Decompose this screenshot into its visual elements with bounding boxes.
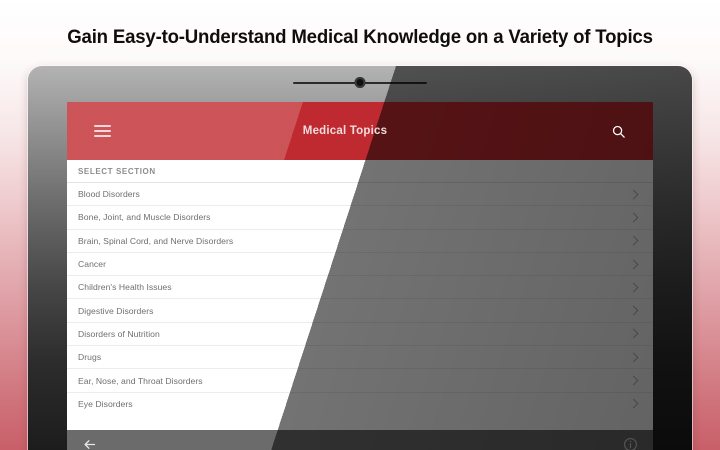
list-item-label: Blood Disorders	[78, 189, 140, 199]
info-circle-icon[interactable]	[620, 434, 640, 450]
chevron-right-icon	[629, 352, 639, 362]
chevron-right-icon	[629, 259, 639, 269]
list-item-label: Ear, Nose, and Throat Disorders	[78, 376, 203, 386]
chevron-right-icon	[629, 399, 639, 409]
device-screen: Medical Topics SELECT SECTION Blood Diso…	[67, 102, 653, 450]
list-item[interactable]: Blood Disorders	[67, 182, 653, 205]
list-item[interactable]: Cancer	[67, 252, 653, 275]
chevron-right-icon	[629, 329, 639, 339]
list-item[interactable]: Drugs	[67, 345, 653, 368]
chevron-right-icon	[629, 236, 639, 246]
chevron-right-icon	[629, 376, 639, 386]
app-bar: Medical Topics	[67, 102, 653, 160]
chevron-right-icon	[629, 306, 639, 316]
list-item[interactable]: Eye Disorders	[67, 392, 653, 415]
list-item-label: Digestive Disorders	[78, 306, 153, 316]
device-top-bezel	[28, 66, 692, 102]
list-item[interactable]: Disorders of Nutrition	[67, 322, 653, 345]
list-item[interactable]: Bone, Joint, and Muscle Disorders	[67, 205, 653, 228]
chevron-right-icon	[629, 282, 639, 292]
section-header-label: SELECT SECTION	[67, 160, 653, 182]
back-arrow-icon[interactable]	[79, 434, 99, 450]
search-icon[interactable]	[595, 102, 641, 160]
page-title: Gain Easy-to-Understand Medical Knowledg…	[16, 26, 704, 49]
topics-list: Blood DisordersBone, Joint, and Muscle D…	[67, 182, 653, 430]
list-item-label: Disorders of Nutrition	[78, 329, 160, 339]
app-bar-title: Medical Topics	[95, 125, 595, 137]
list-item[interactable]: Ear, Nose, and Throat Disorders	[67, 368, 653, 391]
list-item-label: Cancer	[78, 259, 106, 269]
front-camera-icon	[355, 77, 366, 88]
list-item-label: Children's Health Issues	[78, 282, 172, 292]
tablet-device-frame: Medical Topics SELECT SECTION Blood Diso…	[28, 66, 692, 450]
chevron-right-icon	[629, 189, 639, 199]
list-item-label: Eye Disorders	[78, 399, 133, 409]
list-item[interactable]: Brain, Spinal Cord, and Nerve Disorders	[67, 229, 653, 252]
chevron-right-icon	[629, 212, 639, 222]
promo-screenshot: Gain Easy-to-Understand Medical Knowledg…	[0, 0, 720, 450]
list-item[interactable]: Digestive Disorders	[67, 298, 653, 321]
list-item-label: Drugs	[78, 352, 101, 362]
list-item-label: Brain, Spinal Cord, and Nerve Disorders	[78, 236, 233, 246]
bottom-navigation-bar	[67, 430, 653, 450]
list-item-label: Bone, Joint, and Muscle Disorders	[78, 212, 211, 222]
list-item[interactable]: Children's Health Issues	[67, 275, 653, 298]
